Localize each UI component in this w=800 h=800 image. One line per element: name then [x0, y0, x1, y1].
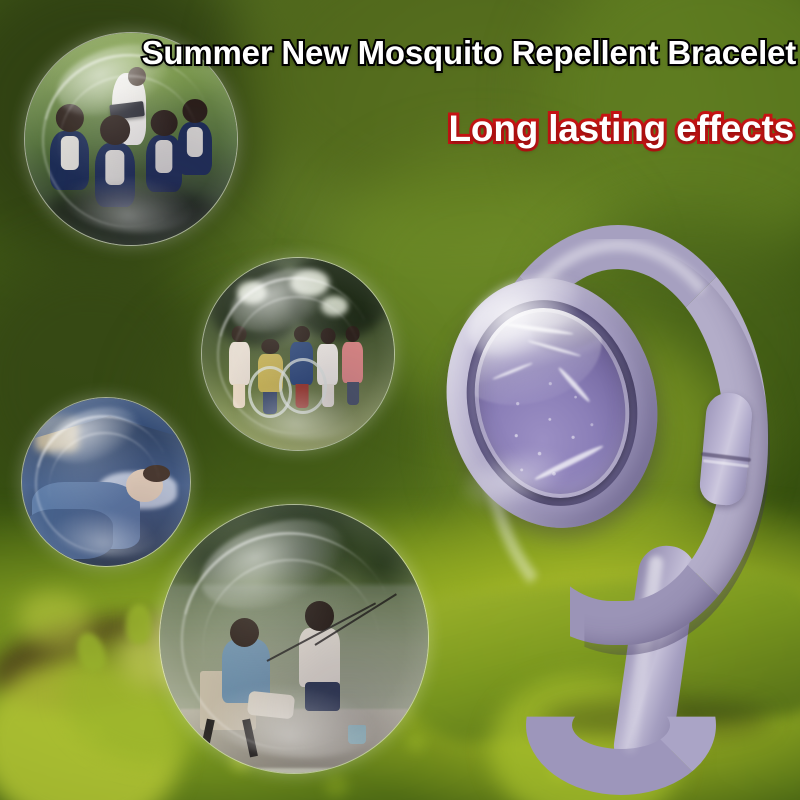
bracelet-strap-bottom-curve	[526, 655, 716, 795]
ad-canvas: Summer New Mosquito Repellent Bracelet L…	[0, 0, 800, 800]
product-bracelet	[430, 215, 800, 735]
bubble-photo-fishing	[160, 505, 428, 773]
sprout-icon	[126, 604, 152, 644]
page-title: Summer New Mosquito Repellent Bracelet	[0, 34, 796, 72]
photo-fishing	[160, 505, 428, 773]
photo-playing	[202, 258, 394, 450]
subtitle: Long lasting effects	[0, 108, 794, 150]
bubble-photo-playing	[202, 258, 394, 450]
